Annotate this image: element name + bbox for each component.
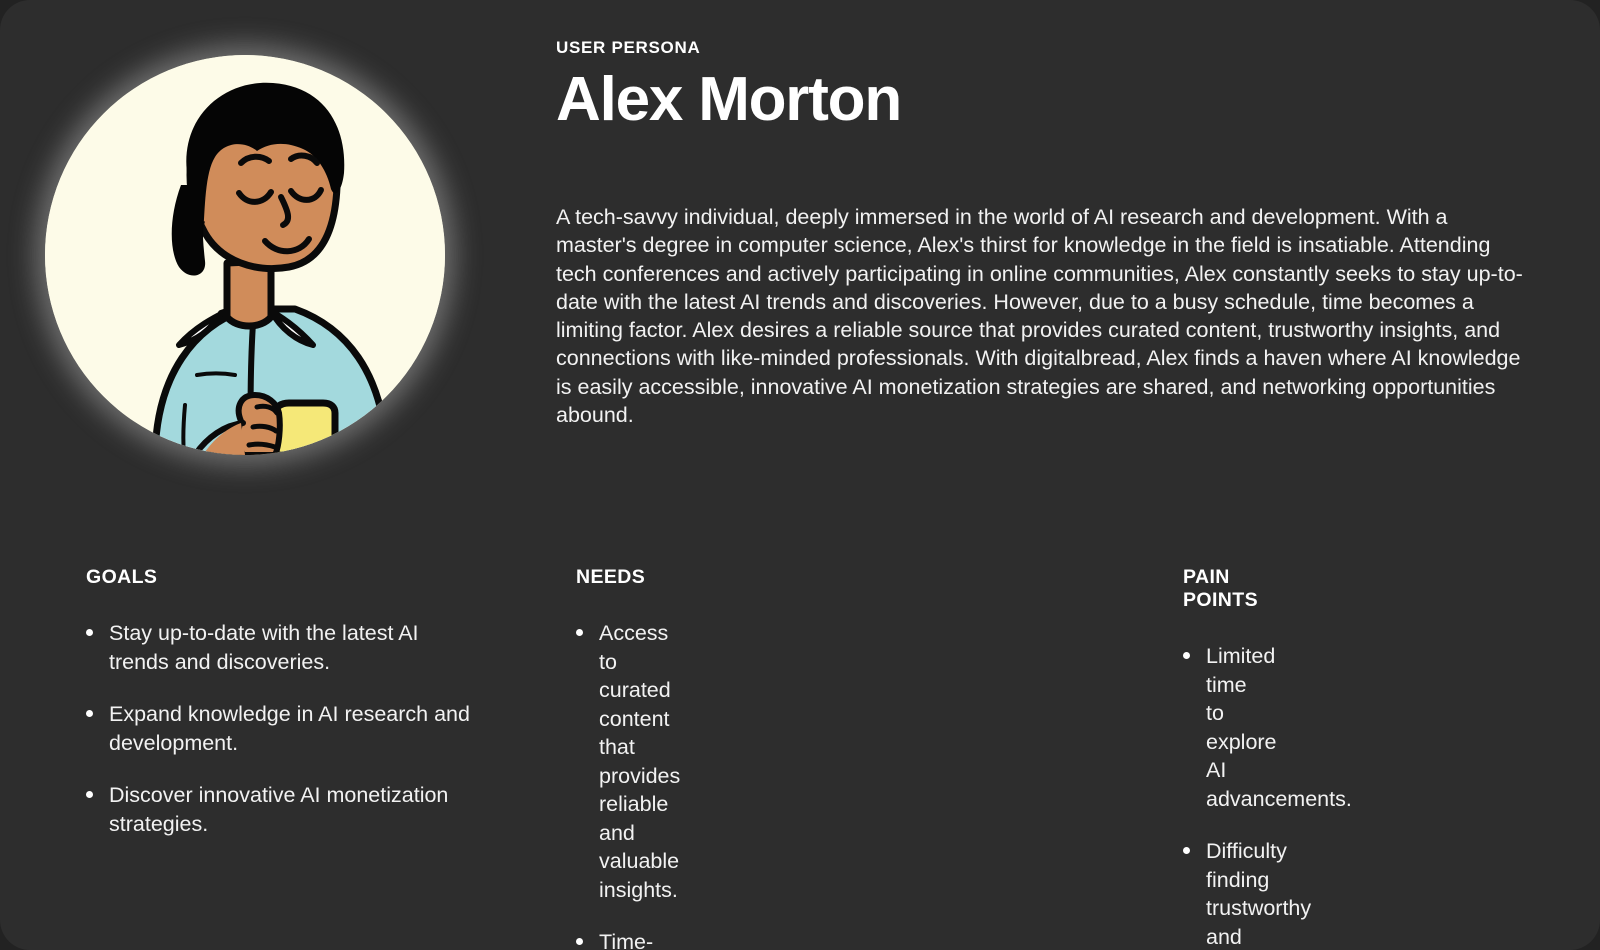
list-item: Difficulty finding trustworthy and valua… [1183,837,1206,950]
bullet-dot-icon [1183,847,1190,854]
bullet-dot-icon [86,710,93,717]
list-item-text: Difficulty finding trustworthy and valua… [1206,839,1311,950]
list-item: Expand knowledge in AI research and deve… [86,700,470,757]
avatar-illustration [45,55,445,455]
list-item: Stay up-to-date with the latest AI trend… [86,619,470,676]
persona-bio: A tech-savvy individual, deeply immersed… [556,203,1526,429]
bullet-dot-icon [1183,652,1190,659]
list-item: Discover innovative AI monetization stra… [86,781,470,838]
eyebrow-label: USER PERSONA [556,38,1536,58]
bullet-dot-icon [576,629,583,636]
avatar [45,55,445,455]
bullet-dot-icon [86,629,93,636]
bullet-dot-icon [576,938,583,945]
list-item-text: Expand knowledge in AI research and deve… [109,702,470,755]
persona-header: USER PERSONA Alex Morton [556,38,1536,134]
bullet-dot-icon [86,791,93,798]
page-title: Alex Morton [556,67,1536,134]
persona-columns: GOALS Stay up-to-date with the latest AI… [0,566,1600,950]
list-item: Time-efficient resources to overcome bus… [576,928,599,950]
list-item: Limited time to explore AI advancements. [1183,642,1206,813]
goals-list: Stay up-to-date with the latest AI trend… [86,619,470,838]
list-item-text: Limited time to explore AI advancements. [1206,644,1352,811]
list-item-text: Stay up-to-date with the latest AI trend… [109,621,419,674]
user-persona-card: USER PERSONA Alex Morton A tech-savvy in… [0,0,1600,950]
list-item: Access to curated content that provides … [576,619,599,904]
list-item-text: Discover innovative AI monetization stra… [109,783,448,836]
